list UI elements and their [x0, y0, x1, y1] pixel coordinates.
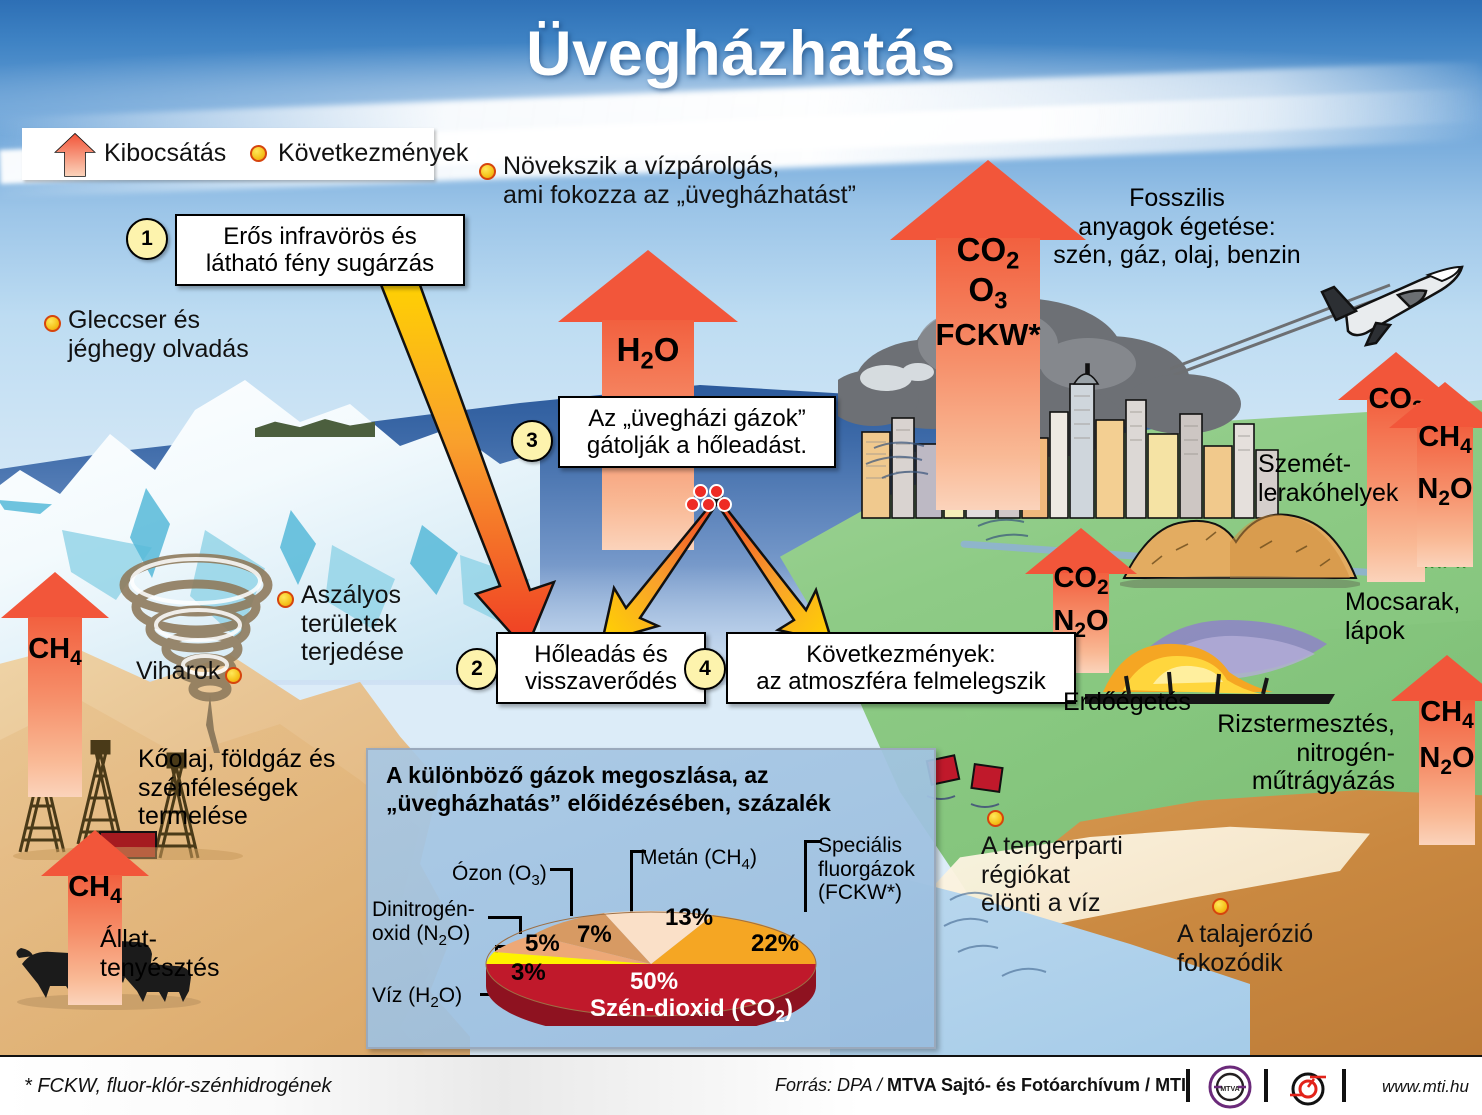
consequence-drought: Aszályos területek terjedése [301, 581, 404, 667]
wetland-arrow-gas-2: N2O [1417, 474, 1472, 510]
source-fossil-fuels: Fosszilis anyagok égetése: szén, gáz, ol… [1012, 184, 1342, 270]
rice-arrow-gas-1: CH4 [1420, 697, 1474, 733]
pie-pct-ch4: 13% [665, 904, 713, 932]
consequence-glacier-melt: Gleccser és jéghegy olvadás [68, 306, 249, 363]
legend-consequence-label: Következmények [278, 139, 468, 168]
step-box-3: Az „üvegházi gázok” gátolják a hőleadást… [558, 396, 836, 468]
source-oil-gas-coal: Kőolaj, földgáz és szénféleségek termelé… [138, 745, 335, 831]
leader-line-fckw-h [804, 840, 822, 843]
city-arrow-gas-2: O3 [969, 272, 1008, 314]
consequence-dot-storms [225, 667, 242, 684]
footer: * FCKW, fluor-klór-szénhidrogének Forrás… [0, 1055, 1482, 1115]
step-box-2: Hőleadás és visszaverődés [496, 632, 706, 704]
consequence-dot-glacier-melt [44, 315, 61, 332]
consequence-water-evaporation: Növekszik a vízpárolgás, ami fokozza az … [503, 152, 856, 209]
svg-text:MTVA: MTVA [1220, 1086, 1239, 1093]
footer-separator-2 [1264, 1069, 1268, 1102]
pie-pct-n2o: 5% [525, 930, 560, 958]
tornado-icon [110, 545, 290, 755]
footnote-fckw: * FCKW, fluor-klór-szénhidrogének [24, 1075, 332, 1098]
pie-pct-o3: 7% [577, 921, 612, 949]
consequence-soil-erosion: A talajerózió fokozódik [1177, 920, 1313, 977]
rice-arrow: CH4 N2O [1388, 655, 1482, 845]
page-title: Üvegházhatás [0, 18, 1482, 90]
leader-line-o3-h [550, 868, 573, 871]
consequence-dot-coastal-flooding [987, 810, 1004, 827]
pie-label-ch4: Metán (CH4) [640, 846, 757, 874]
consequence-coastal-flooding: A tengerparti régiókat elönti a víz [981, 832, 1123, 918]
pie-pct-h2o: 3% [511, 959, 546, 987]
city-arrow-gas-1: CO2 [957, 232, 1020, 274]
legend-emission-label: Kibocsátás [104, 139, 226, 168]
legend: Kibocsátás Következmények [22, 128, 434, 180]
gas-share-panel: A különböző gázok megoszlása, az „üveghá… [366, 748, 936, 1049]
pie-name-co2: Szén-dioxid (CO2) [590, 996, 793, 1026]
infographic-root: H2O CO2 O3 FCKW* CO2 CH4 N2O CO2 N2O CH4… [0, 0, 1482, 1115]
oil-arrow-label: CH4 [28, 634, 82, 670]
buoy-icon [925, 752, 1017, 817]
leader-line-ch4-h [630, 850, 646, 853]
step-box-1: Erős infravörös és látható fény sugárzás [175, 214, 465, 286]
wetland-arrow: CH4 N2O [1386, 382, 1482, 567]
mtva-logo-icon: MTVA [1208, 1065, 1252, 1114]
pie-label-n2o: Dinitrogén-oxid (N2O) [372, 898, 475, 950]
legend-dot-icon [250, 145, 267, 162]
step-badge-1: 1 [126, 218, 168, 260]
footer-url: www.mti.hu [1382, 1077, 1469, 1097]
pie-label-fckw: Speciálisfluorgázok(FCKW*) [818, 834, 915, 905]
consequence-dot-water-evaporation [479, 163, 496, 180]
source-livestock: Állat- tenyésztés [100, 925, 220, 982]
consequence-storms: Viharok [136, 657, 220, 686]
pie-label-h2o: Víz (H2O) [372, 984, 462, 1012]
source-wetlands: Mocsarak, lápok [1345, 588, 1460, 645]
greenhouse-gas-molecules-icon [684, 484, 734, 520]
consequence-dot-drought [277, 591, 294, 608]
consequence-dot-soil-erosion [1212, 898, 1229, 915]
step-badge-2: 2 [456, 648, 498, 690]
reflection-arrows [600, 490, 920, 650]
mti-logo-icon [1286, 1065, 1330, 1114]
step-box-4: Következmények: az atmoszféra felmelegsz… [726, 632, 1076, 704]
footer-separator-1 [1186, 1069, 1190, 1102]
legend-arrow-icon [54, 132, 96, 178]
source-credit: Forrás: DPA / MTVA Sajtó- és Fotóarchívu… [775, 1075, 1186, 1096]
pie-pct-fckw: 22% [751, 930, 799, 958]
oil-arrow: CH4 [0, 572, 110, 797]
wetland-arrow-gas-1: CH4 [1418, 422, 1472, 458]
pie-label-o3: Ózon (O3) [452, 862, 547, 890]
footer-separator-3 [1342, 1069, 1346, 1102]
livestock-arrow-label: CH4 [68, 872, 122, 908]
source-prefix: Forrás: DPA / [775, 1075, 887, 1095]
city-arrow-gas-3: FCKW* [935, 318, 1040, 351]
rice-arrow-gas-2: N2O [1419, 743, 1474, 779]
h2o-arrow-label: H2O [617, 332, 680, 374]
source-landfills: Szemét- lerakóhelyek [1258, 450, 1398, 507]
source-bold: MTVA Sajtó- és Fotóarchívum / MTI [887, 1075, 1186, 1095]
gas-share-title: A különböző gázok megoszlása, az „üveghá… [386, 762, 906, 817]
step-badge-4: 4 [684, 648, 726, 690]
step-badge-3: 3 [511, 420, 553, 462]
source-rice-nitrogen: Rizstermesztés, nitrogén- műtrágyázás [1150, 710, 1395, 796]
pie-pct-co2: 50% [630, 968, 678, 996]
forest-arrow-gas-1: CO2 [1053, 563, 1108, 599]
